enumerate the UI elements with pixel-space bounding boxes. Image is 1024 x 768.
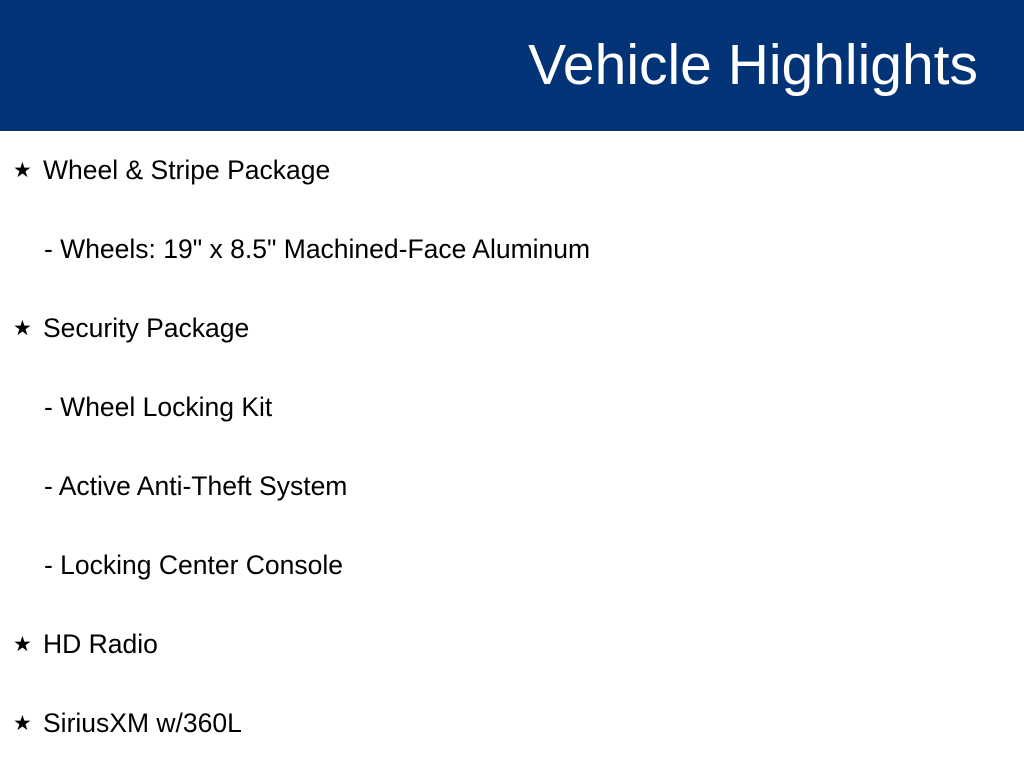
list-item: ★ - Wheel Locking Kit — [0, 368, 1024, 447]
vehicle-highlights-list: ★ Wheel & Stripe Package ★ - Wheels: 19"… — [0, 131, 1024, 768]
star-bullet-icon: ★ — [13, 318, 43, 339]
list-item-label: - Active Anti-Theft System — [43, 473, 347, 500]
list-item: ★ - Active Anti-Theft System — [0, 447, 1024, 526]
star-bullet-icon: ★ — [13, 160, 43, 181]
list-item-label: HD Radio — [43, 631, 158, 658]
list-item-label: - Locking Center Console — [43, 552, 343, 579]
page-title: Vehicle Highlights — [528, 37, 978, 94]
title-banner: Vehicle Highlights — [0, 0, 1024, 131]
star-bullet-icon: ★ — [13, 713, 43, 734]
list-item-label: SiriusXM w/360L — [43, 710, 242, 737]
star-bullet-icon: ★ — [13, 634, 43, 655]
list-item: ★ - Wheels: 19" x 8.5" Machined-Face Alu… — [0, 210, 1024, 289]
slide: Vehicle Highlights ★ Wheel & Stripe Pack… — [0, 0, 1024, 768]
list-item: ★ SiriusXM w/360L — [0, 684, 1024, 763]
list-item-label: Wheel & Stripe Package — [43, 157, 330, 184]
list-item: ★ Security Package — [0, 289, 1024, 368]
list-item-label: - Wheels: 19" x 8.5" Machined-Face Alumi… — [43, 236, 590, 263]
list-item-label: - Wheel Locking Kit — [43, 394, 272, 421]
list-item: ★ Wheel & Stripe Package — [0, 131, 1024, 210]
list-item: ★ - Locking Center Console — [0, 526, 1024, 605]
list-item-label: Security Package — [43, 315, 249, 342]
list-item: ★ HD Radio — [0, 605, 1024, 684]
